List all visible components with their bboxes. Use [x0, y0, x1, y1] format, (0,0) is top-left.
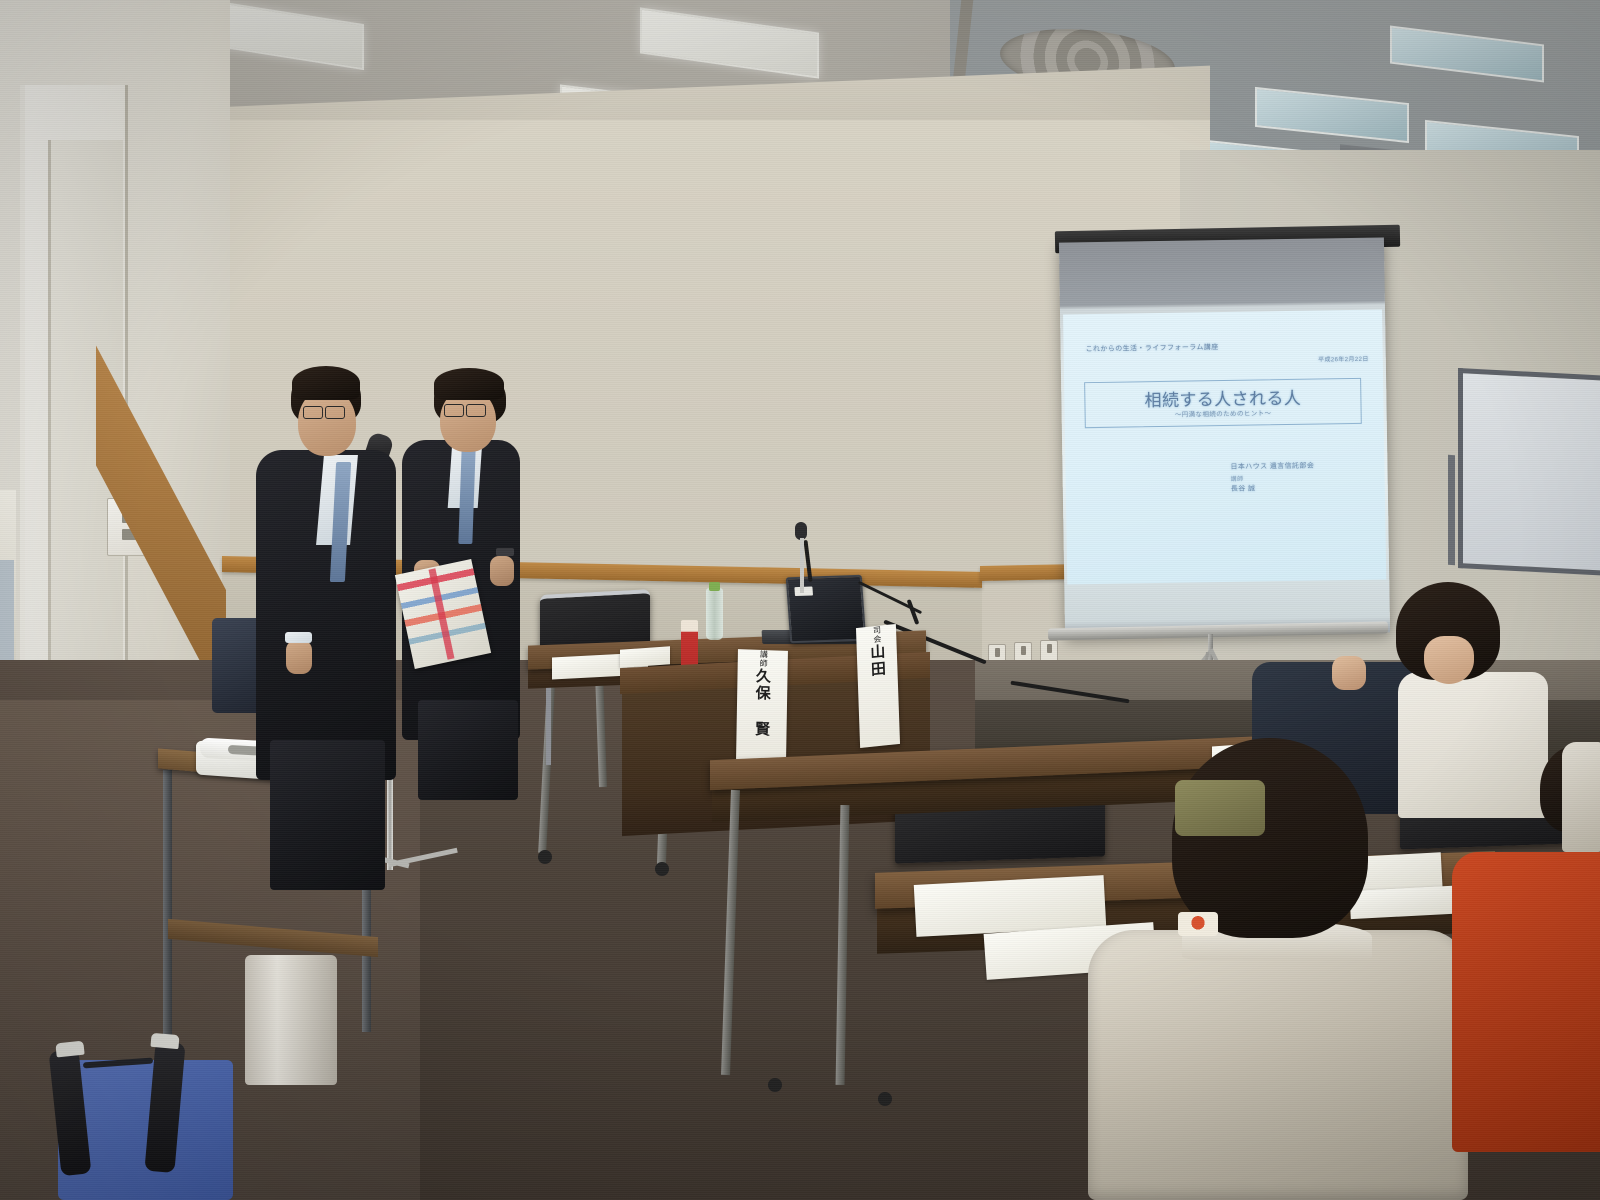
placard-role-label: 講師	[758, 650, 769, 668]
papers-on-presenter-table	[620, 646, 670, 667]
whiteboard[interactable]	[1458, 368, 1600, 576]
attendee-white-top-hand	[1332, 656, 1366, 690]
attendee-brooch-icon	[1178, 912, 1218, 936]
table-caster	[878, 1092, 892, 1106]
attendee-beige-jacket-body	[1088, 930, 1468, 1200]
side-table-leg	[163, 770, 172, 1035]
table-caster	[538, 850, 552, 864]
projection-screen: これからの生活・ライフフォーラム講座 平成26年2月22日 相続する人される人 …	[1059, 237, 1390, 637]
slide-date-text: 平成26年2月22日	[1318, 354, 1369, 364]
presentation-slide: これからの生活・ライフフォーラム講座 平成26年2月22日 相続する人される人 …	[1063, 310, 1386, 585]
speaker-right-hair-top	[434, 368, 504, 400]
slide-presenter-name: 長谷 誠	[1231, 484, 1256, 494]
attendee-orange-top-body	[1452, 852, 1600, 1152]
table-caster	[768, 1078, 782, 1092]
attendee-beige-jacket-hair	[1172, 738, 1368, 938]
table-caster	[655, 862, 669, 876]
speaker-right-legs	[418, 700, 518, 800]
speaker-name-placard: 司会 山田	[856, 624, 900, 748]
wall-notice-board	[0, 560, 14, 670]
speaker-left-glasses-icon	[325, 406, 345, 419]
slide-role-text: 講師	[1231, 474, 1244, 483]
slide-title-box: 相続する人される人 ～円満な相続のためのヒント～	[1084, 378, 1362, 428]
placard-role-label: 司会	[871, 625, 883, 644]
speaker-right-glasses-icon	[466, 404, 486, 417]
speaker-left-hair-top	[292, 366, 360, 400]
slide-header-text: これからの生活・ライフフォーラム講座	[1086, 342, 1219, 354]
attendee-edge-figure	[1562, 742, 1600, 852]
slide-organization-text: 日本ハウス 遺言信託部会	[1230, 461, 1314, 472]
whiteboard-stand-leg	[1448, 455, 1455, 565]
seminar-room-photo: これからの生活・ライフフォーラム講座 平成26年2月22日 相続する人される人 …	[0, 0, 1600, 1200]
waste-bin	[245, 955, 337, 1085]
laptop-screen[interactable]	[786, 575, 867, 643]
speaker-left-legs	[270, 740, 385, 890]
speaker-left-hand	[286, 640, 312, 674]
speaker-right-hand	[490, 556, 514, 586]
attendee-white-top-face	[1424, 636, 1474, 684]
wristwatch-icon	[496, 548, 514, 556]
attendee-white-top-body	[1398, 672, 1548, 818]
speaker-left-cuff	[285, 632, 312, 643]
speaker-right-glasses-icon	[444, 404, 464, 417]
placard-name-label: 山田	[866, 643, 888, 679]
table-microphone-stand	[800, 538, 804, 593]
wheelchair-handle-cap	[55, 1041, 84, 1058]
wheelchair-handle-cap	[150, 1033, 179, 1049]
bag-on-chair	[1175, 780, 1265, 836]
speaker-name-placard: 講師 久保 賢	[736, 649, 788, 761]
bottle-cap	[709, 582, 720, 591]
speaker-left-glasses-icon	[303, 406, 323, 419]
placard-name-label: 久保 賢	[751, 668, 773, 739]
water-bottle[interactable]	[706, 588, 723, 640]
